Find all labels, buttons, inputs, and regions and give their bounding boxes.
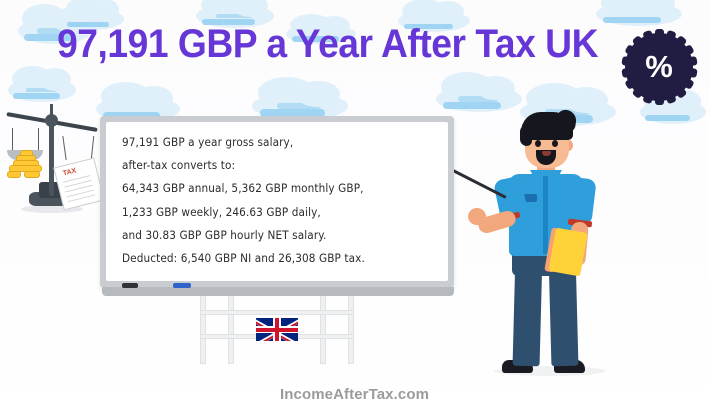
page-title: 97,191 GBP a Year After Tax UK: [25, 22, 684, 67]
whiteboard-tray: [102, 287, 454, 296]
character-hair-side: [520, 126, 532, 146]
whiteboard-line: 64,343 GBP annual, 5,362 GBP monthly GBP…: [122, 177, 438, 202]
whiteboard-line: 1,233 GBP weekly, 246.63 GBP daily,: [122, 201, 438, 226]
uk-flag-icon: [256, 318, 298, 341]
whiteboard-line: Deducted: 6,540 GBP NI and 26,308 GBP ta…: [122, 247, 438, 272]
character-eyebrow-left: [532, 134, 542, 137]
whiteboard-surface: 97,191 GBP a year gross salary, after-ta…: [106, 122, 448, 281]
infographic-page: 97,191 GBP a Year After Tax UK %: [0, 0, 709, 419]
site-watermark: IncomeAfterTax.com: [0, 386, 709, 403]
whiteboard-line: and 30.83 GBP GBP hourly NET salary.: [122, 224, 438, 249]
stand-leg: [320, 294, 326, 364]
character-book: [548, 228, 587, 277]
tax-document-label: TAX: [62, 167, 77, 177]
flag-cross-red: [275, 318, 279, 341]
percent-icon: %: [625, 33, 693, 101]
whiteboard-stand: [186, 288, 368, 368]
character-hand-left: [468, 208, 486, 225]
scales-string-right: [91, 136, 95, 160]
stand-leg: [228, 294, 234, 364]
coin: [24, 171, 40, 178]
whiteboard-line: after-tax converts to:: [122, 154, 438, 179]
stand-leg: [348, 294, 354, 364]
character-eyebrow-right: [550, 134, 560, 137]
coin: [7, 171, 21, 178]
character-eye-left: [535, 140, 541, 147]
character-eye-right: [552, 140, 558, 147]
teacher-character: [492, 104, 612, 379]
whiteboard-line: 97,191 GBP a year gross salary,: [122, 131, 438, 156]
gold-coins: [6, 150, 52, 184]
scales-string-right: [62, 136, 66, 160]
character-hair-top: [555, 109, 578, 134]
cloud-3: [8, 78, 76, 102]
percent-badge: %: [625, 33, 693, 101]
black-marker-icon: [122, 283, 138, 288]
balance-scales-illustration: TAX: [2, 106, 106, 230]
tax-document: TAX: [53, 158, 104, 211]
scales-string-left: [12, 128, 13, 152]
whiteboard: 97,191 GBP a year gross salary, after-ta…: [100, 116, 454, 288]
cloud-12: [640, 100, 706, 124]
stand-leg: [200, 294, 206, 364]
whiteboard-text-block: 97,191 GBP a year gross salary, after-ta…: [122, 132, 438, 271]
blue-marker-icon: [173, 283, 191, 288]
scales-pivot: [45, 114, 58, 127]
stand-cross-rail: [200, 310, 354, 315]
character-shirt-placket: [543, 176, 548, 254]
scales-string-left: [38, 128, 39, 152]
